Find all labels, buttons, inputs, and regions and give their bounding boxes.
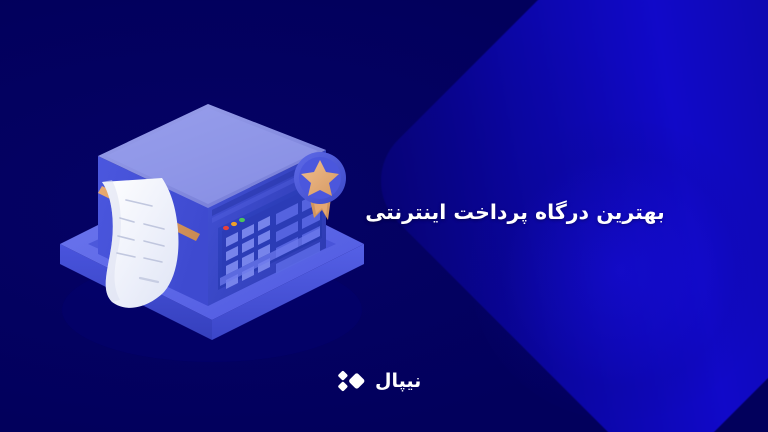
promo-banner: بهترین درگاه پرداخت اینترنتی نیپال xyxy=(0,0,768,432)
brand-logo: نیپال xyxy=(338,366,421,396)
brand-name: نیپال xyxy=(375,372,421,391)
diamond-cluster-icon xyxy=(338,366,368,396)
headline-text: بهترین درگاه پرداخت اینترنتی xyxy=(290,198,740,228)
